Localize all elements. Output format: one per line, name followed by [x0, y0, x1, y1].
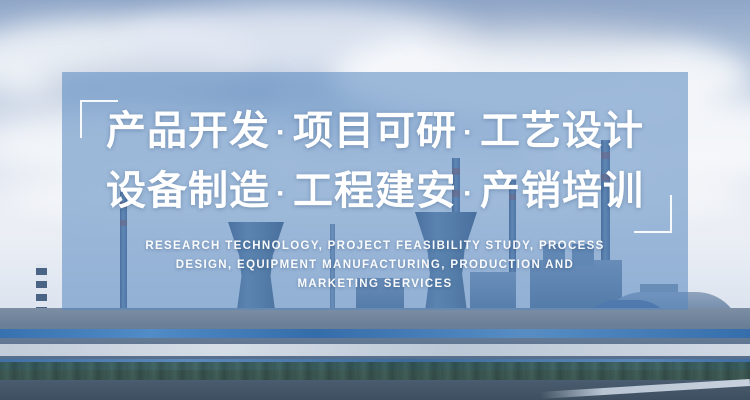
blue-roof-row	[0, 329, 750, 338]
promo-banner: 产品开发·项目可研·工艺设计 设备制造·工程建安·产销培训 RESEARCH T…	[0, 0, 750, 400]
headline-separator: ·	[270, 116, 293, 149]
headline-item: 项目可研	[293, 109, 457, 153]
headline-item: 工程建安	[293, 169, 457, 213]
headline-line-2: 设备制造·工程建安·产销培训	[106, 162, 644, 222]
banner-content: 产品开发·项目可研·工艺设计 设备制造·工程建安·产销培训 RESEARCH T…	[62, 72, 688, 310]
headline-item: 工艺设计	[480, 109, 644, 153]
headline-separator: ·	[457, 116, 480, 149]
headline-separator: ·	[457, 177, 480, 210]
headline-item: 设备制造	[106, 169, 270, 213]
headline-line-1: 产品开发·项目可研·工艺设计	[106, 102, 644, 162]
subtitle-block: RESEARCH TECHNOLOGY, PROJECT FEASIBILITY…	[140, 237, 610, 294]
headline-item: 产品开发	[106, 109, 270, 153]
subtitle-line: DESIGN, EQUIPMENT MANUFACTURING, PRODUCT…	[140, 256, 610, 275]
subtitle-line: RESEARCH TECHNOLOGY, PROJECT FEASIBILITY…	[140, 237, 610, 256]
headline-separator: ·	[270, 177, 293, 210]
white-factory-row	[0, 344, 750, 356]
headline-item: 产销培训	[480, 169, 644, 213]
subtitle-line: MARKETING SERVICES	[140, 275, 610, 294]
